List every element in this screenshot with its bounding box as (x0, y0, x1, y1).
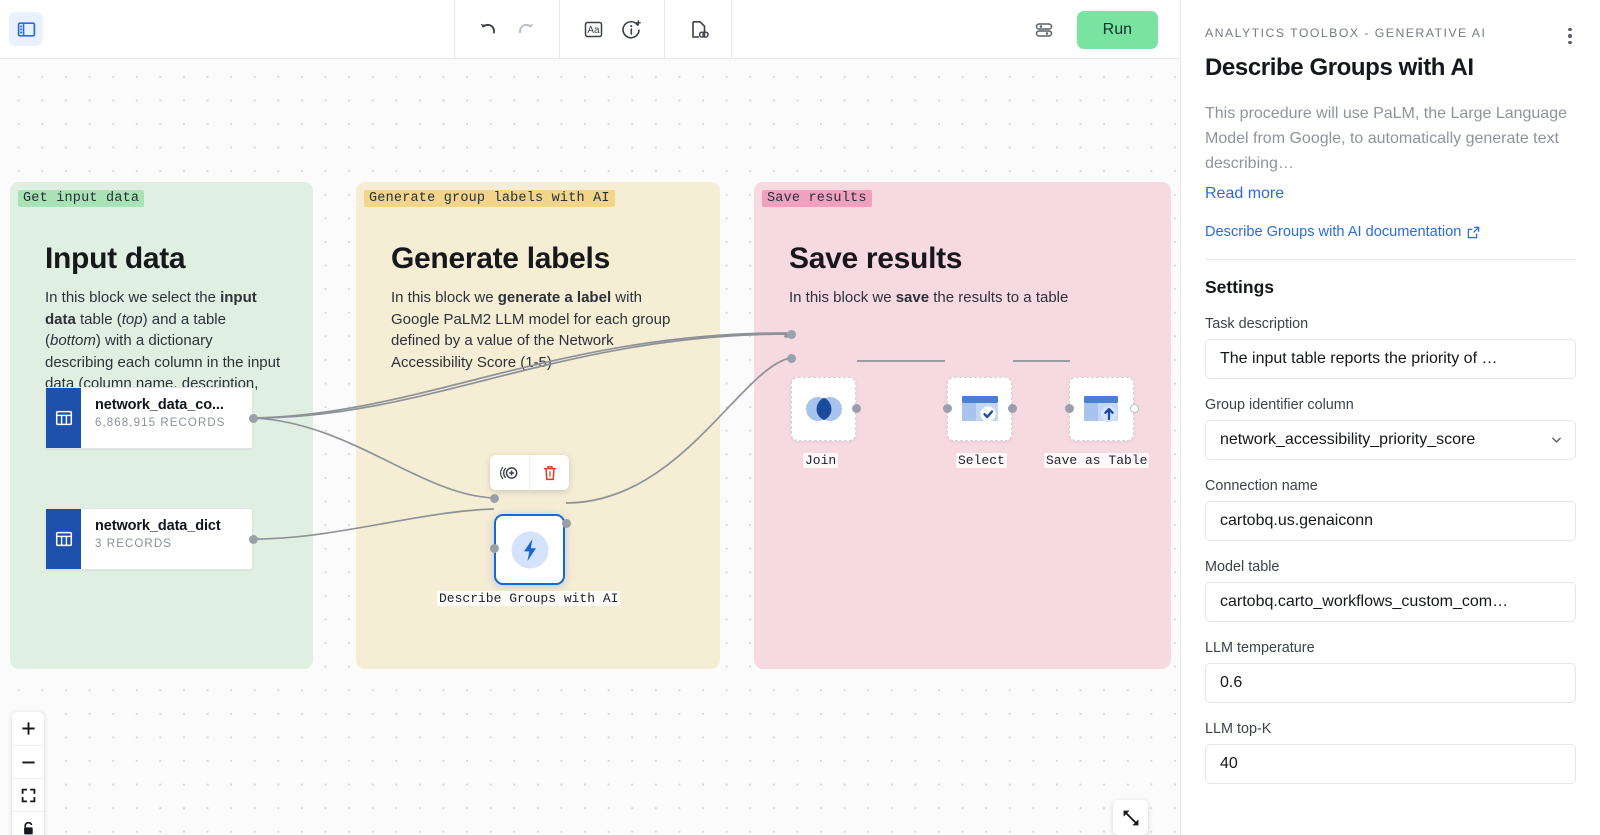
field-value: network_accessibility_priority_score (1220, 431, 1475, 449)
toolbar-right: Run (1025, 0, 1180, 59)
table-upload-icon (1081, 392, 1123, 426)
group-label: Get input data (18, 190, 144, 207)
llm-top-k-input[interactable]: 40 (1205, 744, 1576, 784)
component-node-save-as-table[interactable] (1069, 377, 1134, 441)
top-toolbar: Aa (0, 0, 1180, 59)
input-port[interactable] (787, 330, 796, 339)
field-llm-temperature: LLM temperature 0.6 (1205, 640, 1576, 703)
panel-eyebrow: ANALYTICS TOOLBOX - GENERATIVE AI (1205, 26, 1576, 40)
output-port[interactable] (249, 414, 258, 423)
task-description-input[interactable]: The input table reports the priority of … (1205, 339, 1576, 379)
input-port[interactable] (787, 354, 796, 363)
component-node-describe-groups-with-ai[interactable] (494, 514, 565, 585)
field-group-identifier-column: Group identifier column network_accessib… (1205, 397, 1576, 460)
table-node-body: network_data_co... 6,868,915 RECORDS (81, 388, 252, 448)
add-to-workflow-icon[interactable] (490, 455, 529, 490)
table-node[interactable]: network_data_co... 6,868,915 RECORDS (45, 387, 253, 449)
field-value: 40 (1220, 755, 1238, 773)
history-group (454, 0, 559, 59)
table-node[interactable]: network_data_dict 3 RECORDS (45, 508, 253, 570)
field-label: Model table (1205, 559, 1576, 575)
group-description: In this block we save the results to a t… (789, 287, 1139, 309)
panel-divider (1205, 259, 1576, 260)
field-connection-name: Connection name cartobq.us.genaiconn (1205, 478, 1576, 541)
model-table-input[interactable]: cartobq.carto_workflows_custom_com… (1205, 582, 1576, 622)
workflow-area: Aa (0, 0, 1180, 835)
documentation-link[interactable]: Describe Groups with AI documentation (1205, 224, 1576, 240)
more-options-icon[interactable] (1558, 24, 1582, 48)
output-port[interactable] (249, 535, 258, 544)
table-node-records: 3 RECORDS (95, 538, 252, 550)
field-label: Group identifier column (1205, 397, 1576, 413)
field-model-table: Model table cartobq.carto_workflows_cust… (1205, 559, 1576, 622)
table-icon (46, 509, 81, 569)
component-node-join[interactable] (791, 377, 856, 441)
annotate-group: Aa (559, 0, 664, 59)
component-node-label: Describe Groups with AI (437, 591, 620, 606)
field-value: The input table reports the priority of … (1220, 350, 1497, 368)
toolbar-center-groups: Aa (454, 0, 732, 59)
field-label: LLM top-K (1205, 721, 1576, 737)
group-title: Generate labels (391, 242, 610, 276)
field-value: cartobq.carto_workflows_custom_com… (1220, 593, 1508, 611)
group-label: Generate group labels with AI (364, 190, 615, 207)
field-label: Connection name (1205, 478, 1576, 494)
panel-layout-icon[interactable] (9, 12, 43, 46)
group-identifier-column-select[interactable]: network_accessibility_priority_score (1205, 420, 1576, 460)
table-check-icon (959, 392, 1001, 426)
field-label: Task description (1205, 316, 1576, 332)
canvas-zoom-controls (12, 712, 44, 835)
redo-icon[interactable] (507, 11, 545, 49)
group-title: Save results (789, 242, 962, 276)
parameters-icon[interactable] (1025, 11, 1063, 49)
external-link-icon (1467, 226, 1480, 239)
component-node-label: Save as Table (1044, 453, 1149, 468)
input-port[interactable] (943, 404, 952, 413)
documentation-link-label: Describe Groups with AI documentation (1205, 224, 1461, 240)
fit-to-screen-icon[interactable] (12, 778, 44, 811)
panel-description: This procedure will use PaLM, the Large … (1205, 101, 1576, 176)
zoom-in-icon[interactable] (12, 712, 44, 745)
resize-diagonal-icon[interactable] (1113, 800, 1148, 835)
field-llm-top-k: LLM top-K 40 (1205, 721, 1576, 784)
input-port[interactable] (490, 494, 499, 503)
settings-side-panel: ANALYTICS TOOLBOX - GENERATIVE AI Descri… (1180, 0, 1600, 835)
field-label: LLM temperature (1205, 640, 1576, 656)
settings-heading: Settings (1205, 277, 1576, 298)
input-port[interactable] (1065, 404, 1074, 413)
output-port[interactable] (562, 519, 571, 528)
undo-icon[interactable] (469, 11, 507, 49)
component-node-select[interactable] (947, 377, 1012, 441)
group-title: Input data (45, 242, 185, 276)
workflow-app: Aa (0, 0, 1600, 835)
output-port[interactable] (1130, 404, 1139, 413)
output-port[interactable] (1008, 404, 1017, 413)
document-link-icon[interactable] (679, 11, 717, 49)
node-context-toolbar (490, 455, 569, 490)
group-description: In this block we generate a label with G… (391, 287, 686, 373)
share-group (664, 0, 732, 59)
delete-icon[interactable] (529, 455, 569, 490)
info-sparkle-icon[interactable] (612, 11, 650, 49)
lock-icon[interactable] (12, 811, 44, 835)
svg-text:Aa: Aa (587, 25, 600, 36)
table-node-name: network_data_co... (95, 397, 252, 413)
lightning-bolt-icon (509, 529, 551, 571)
venn-join-icon (802, 394, 846, 424)
table-icon (46, 388, 81, 448)
read-more-link[interactable]: Read more (1205, 185, 1576, 203)
panel-title: Describe Groups with AI (1205, 54, 1576, 82)
chevron-down-icon (1550, 434, 1563, 447)
component-node-label: Select (956, 453, 1007, 468)
input-port[interactable] (490, 544, 499, 553)
llm-temperature-input[interactable]: 0.6 (1205, 663, 1576, 703)
group-label: Save results (762, 190, 872, 207)
field-value: 0.6 (1220, 674, 1242, 692)
component-node-label: Join (803, 453, 838, 468)
output-port[interactable] (852, 404, 861, 413)
field-task-description: Task description The input table reports… (1205, 316, 1576, 379)
run-button[interactable]: Run (1077, 11, 1158, 49)
table-node-name: network_data_dict (95, 518, 252, 534)
table-node-body: network_data_dict 3 RECORDS (81, 509, 252, 569)
table-node-records: 6,868,915 RECORDS (95, 417, 252, 429)
workflow-canvas[interactable]: Get input data Input data In this block … (0, 59, 1180, 835)
zoom-out-icon[interactable] (12, 745, 44, 778)
connection-name-input[interactable]: cartobq.us.genaiconn (1205, 501, 1576, 541)
field-value: cartobq.us.genaiconn (1220, 512, 1373, 530)
text-aa-icon[interactable]: Aa (574, 11, 612, 49)
